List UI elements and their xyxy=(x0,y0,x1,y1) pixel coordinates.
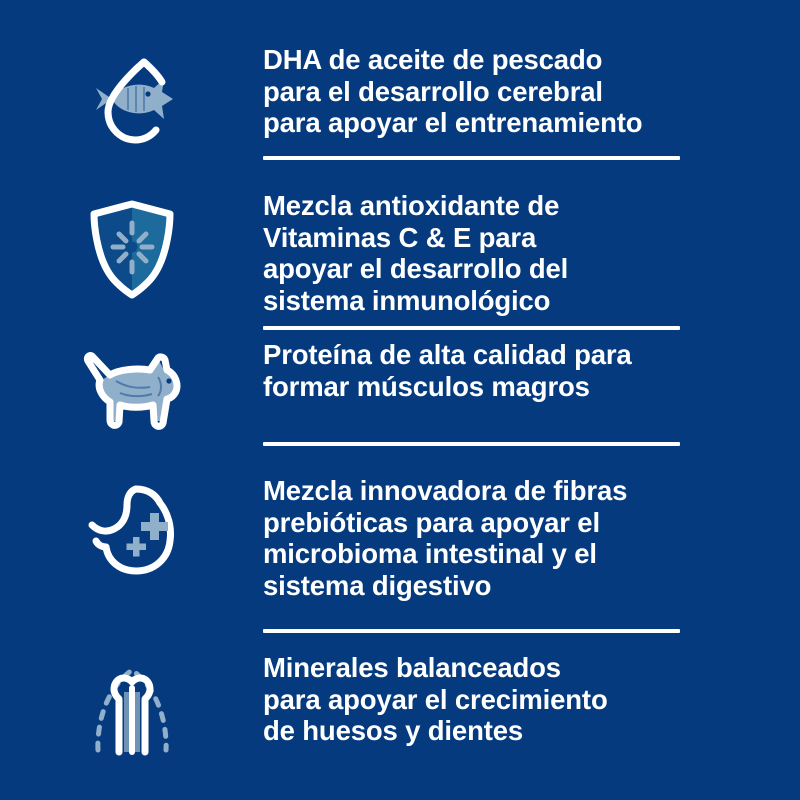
benefits-panel: DHA de aceite de pescado para el desarro… xyxy=(0,0,800,800)
benefit-text-dha: DHA de aceite de pescado para el desarro… xyxy=(263,44,690,139)
benefit-row-minerals: Minerales balanceados para apoyar el cre… xyxy=(0,652,800,763)
benefit-text-cell: Minerales balanceados para apoyar el cre… xyxy=(263,652,800,747)
benefit-text-cell: DHA de aceite de pescado para el desarro… xyxy=(263,44,800,139)
benefit-icon-cell xyxy=(0,190,263,313)
dog-muscle-icon xyxy=(72,339,192,440)
benefit-text-prebiotics: Mezcla innovadora de fibras prebióticas … xyxy=(263,475,690,601)
benefit-row-protein: Proteína de alta calidad para formar mús… xyxy=(0,339,800,440)
benefit-text-cell: Mezcla antioxidante de Vitaminas C & E p… xyxy=(263,190,800,316)
benefit-icon-cell xyxy=(0,652,263,763)
fish-oil-droplet-icon xyxy=(78,44,186,157)
shield-antioxidant-icon xyxy=(78,190,186,313)
benefit-row-antioxidant: Mezcla antioxidante de Vitaminas C & E p… xyxy=(0,190,800,316)
benefit-row-dha: DHA de aceite de pescado para el desarro… xyxy=(0,44,800,157)
benefit-text-cell: Proteína de alta calidad para formar mús… xyxy=(263,339,800,402)
divider-after-benefit-4 xyxy=(263,629,680,633)
benefit-row-prebiotics: Mezcla innovadora de fibras prebióticas … xyxy=(0,475,800,601)
benefit-text-minerals: Minerales balanceados para apoyar el cre… xyxy=(263,652,690,747)
divider-after-benefit-2 xyxy=(263,326,680,330)
benefit-text-protein: Proteína de alta calidad para formar mús… xyxy=(263,339,690,402)
benefit-icon-cell xyxy=(0,44,263,157)
benefit-icon-cell xyxy=(0,475,263,592)
stomach-digestive-icon xyxy=(78,475,186,592)
divider-after-benefit-1 xyxy=(263,156,680,160)
benefit-icon-cell xyxy=(0,339,263,440)
divider-after-benefit-3 xyxy=(263,442,680,446)
bone-tooth-icon xyxy=(82,652,182,763)
benefit-text-antioxidant: Mezcla antioxidante de Vitaminas C & E p… xyxy=(263,190,690,316)
benefit-text-cell: Mezcla innovadora de fibras prebióticas … xyxy=(263,475,800,601)
